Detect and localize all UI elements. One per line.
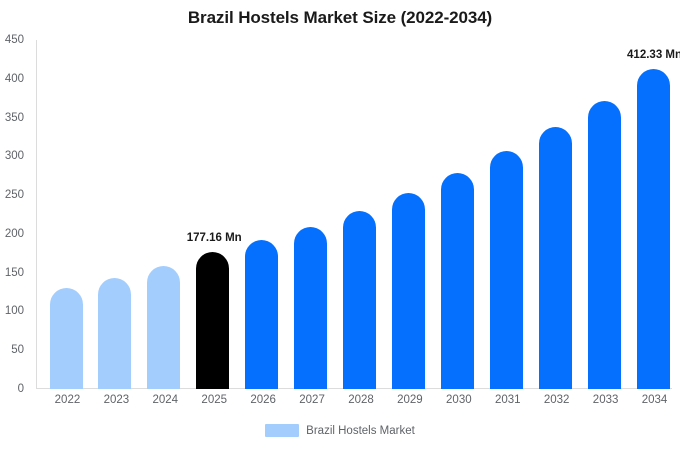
bar-2023[interactable] [98, 278, 131, 389]
bar-slot [239, 40, 288, 389]
y-axis-tick-label: 200 [0, 228, 24, 240]
bar-2024[interactable] [147, 266, 180, 389]
x-axis-tick-label: 2034 [630, 394, 679, 406]
x-axis-tick-label: 2030 [434, 394, 483, 406]
x-axis-tick-label: 2027 [288, 394, 337, 406]
chart-title: Brazil Hostels Market Size (2022-2034) [0, 8, 680, 28]
legend-item-label: Brazil Hostels Market [306, 425, 415, 437]
bar-slot [141, 40, 190, 389]
x-axis-tick-label: 2025 [190, 394, 239, 406]
x-axis-tick-label: 2033 [581, 394, 630, 406]
legend-item-brazil-hostels-market[interactable]: Brazil Hostels Market [265, 424, 415, 437]
x-axis-tick-labels: 2022202320242025202620272028202920302031… [36, 394, 672, 414]
bar-2026[interactable] [245, 240, 278, 389]
bar-value-label-2034: 412.33 Mn [627, 49, 680, 61]
bar-2034[interactable] [637, 69, 670, 389]
bar-2031[interactable] [490, 151, 523, 389]
plot-area: 050100150200250300350400450 177.16 Mn412… [36, 40, 672, 389]
bars-layer: 177.16 Mn412.33 Mn [36, 40, 672, 389]
y-axis-tick-label: 250 [0, 189, 24, 201]
bar-slot [92, 40, 141, 389]
bar-2029[interactable] [392, 193, 425, 389]
x-axis-tick-label: 2023 [92, 394, 141, 406]
y-axis-tick-label: 450 [0, 34, 24, 46]
bar-slot [288, 40, 337, 389]
bar-2030[interactable] [441, 173, 474, 389]
bar-2033[interactable] [588, 101, 621, 389]
y-axis-tick-label: 400 [0, 73, 24, 85]
x-axis-tick-label: 2031 [483, 394, 532, 406]
chart-legend: Brazil Hostels Market [0, 424, 680, 437]
bar-slot [385, 40, 434, 389]
x-axis-tick-label: 2022 [43, 394, 92, 406]
bar-slot [483, 40, 532, 389]
bar-slot [532, 40, 581, 389]
x-axis-tick-label: 2029 [385, 394, 434, 406]
x-axis-tick-label: 2026 [239, 394, 288, 406]
y-axis-tick-label: 0 [0, 383, 24, 395]
bar-slot [190, 40, 239, 389]
x-axis-tick-label: 2028 [337, 394, 386, 406]
bar-2027[interactable] [294, 227, 327, 389]
x-axis-tick-label: 2024 [141, 394, 190, 406]
bar-slot [434, 40, 483, 389]
y-axis-tick-label: 50 [0, 344, 24, 356]
y-axis-tick-label: 150 [0, 267, 24, 279]
bar-2022[interactable] [50, 288, 83, 389]
bar-slot [630, 40, 679, 389]
bar-value-label-2025: 177.16 Mn [187, 232, 242, 244]
bar-slot [581, 40, 630, 389]
y-axis-tick-label: 300 [0, 150, 24, 162]
legend-swatch-icon [265, 424, 299, 437]
bar-2032[interactable] [539, 127, 572, 389]
y-axis-tick-label: 100 [0, 305, 24, 317]
bar-slot [43, 40, 92, 389]
bar-2028[interactable] [343, 211, 376, 389]
bar-2025[interactable] [196, 252, 229, 389]
bar-slot [337, 40, 386, 389]
bar-chart: Brazil Hostels Market Size (2022-2034) 0… [0, 0, 680, 450]
y-axis-tick-label: 350 [0, 112, 24, 124]
x-axis-tick-label: 2032 [532, 394, 581, 406]
